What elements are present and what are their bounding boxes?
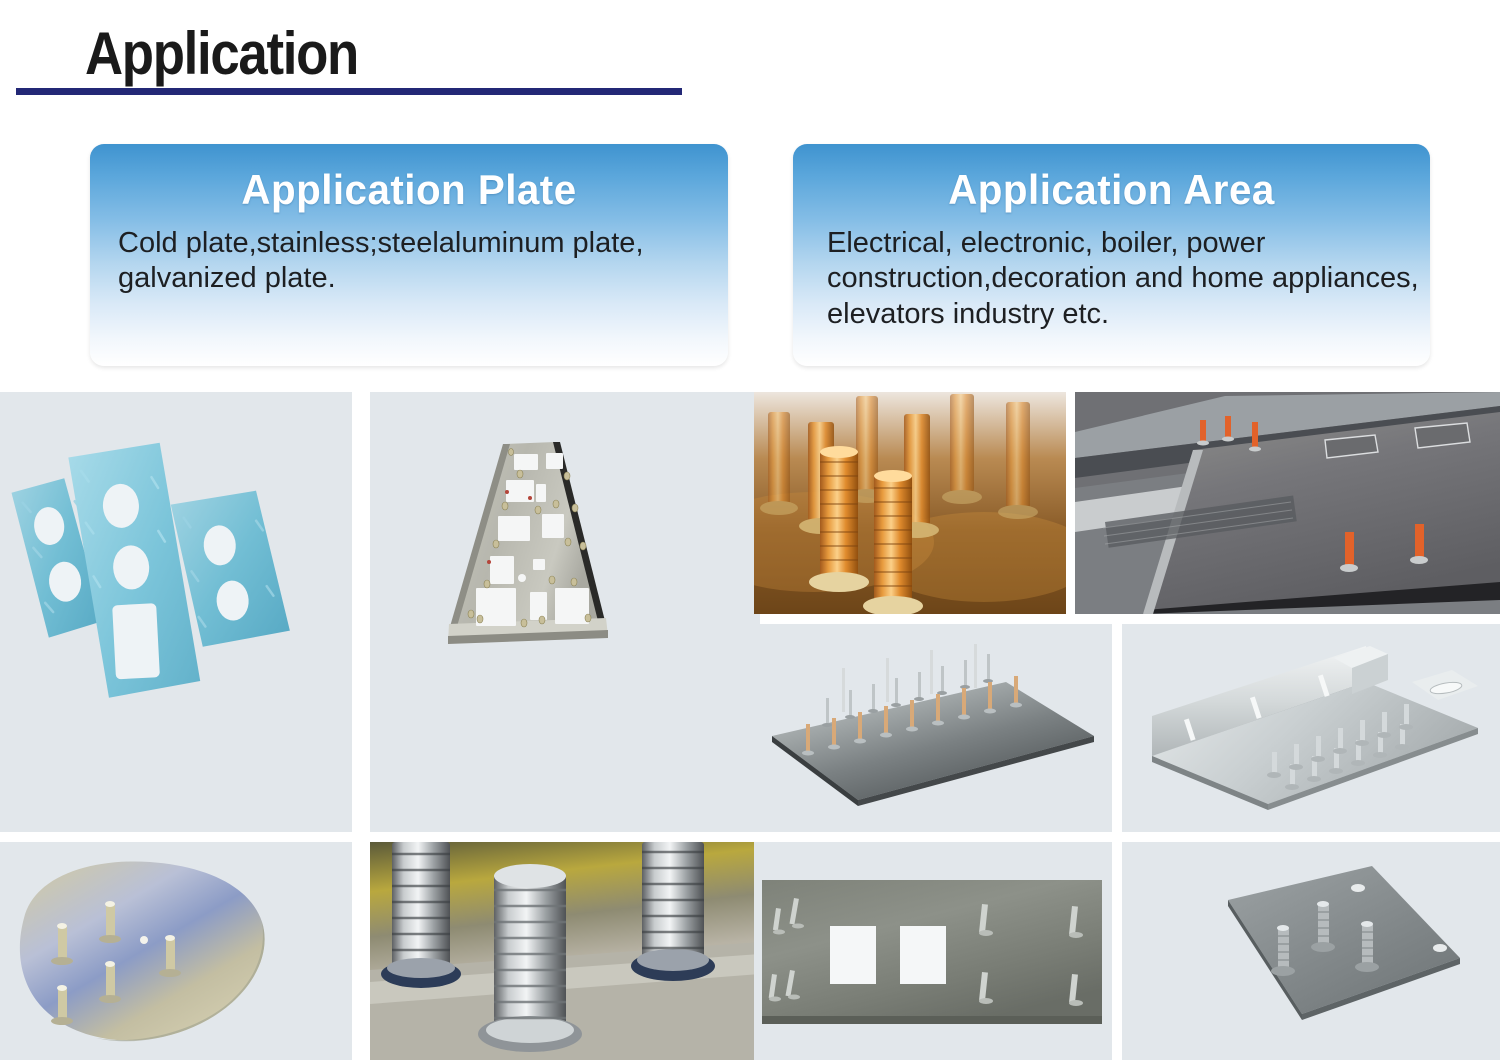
gallery-tile-stud-weld-macro	[370, 842, 760, 1060]
gallery-tile-blue-galvanized-plates	[0, 392, 352, 832]
copper-stud-closeup-photo	[754, 392, 1066, 614]
application-area-card: Application Area Electrical, electronic,…	[793, 144, 1430, 366]
gallery-tile-angled-plate-studs	[1122, 842, 1500, 1060]
dark-panel-orange-studs-photo	[1075, 392, 1500, 614]
flat-plate-stud-rows-photo	[754, 624, 1112, 832]
gallery-tile-trapezoid-stainless-panel	[370, 392, 760, 832]
curved-plate-studs-photo	[0, 842, 352, 1060]
page-header: Application	[0, 0, 1500, 105]
page-title: Application	[85, 24, 358, 84]
trapezoid-stainless-panel-photo	[370, 392, 760, 832]
gallery-tile-curved-plate-studs	[0, 842, 352, 1060]
channel-bracket-studs-photo	[1122, 624, 1500, 832]
gallery-tile-dark-panel-orange-studs	[1075, 392, 1500, 614]
info-card-row: Application Plate Cold plate,stainless;s…	[0, 144, 1500, 366]
stud-weld-macro-photo	[370, 842, 760, 1060]
application-area-card-title: Application Area	[806, 168, 1418, 212]
gallery-tile-channel-bracket-studs	[1122, 624, 1500, 832]
blue-galvanized-plates-photo	[0, 392, 352, 832]
application-plate-card-body: Cold plate,stainless;steelaluminum plate…	[90, 226, 728, 297]
angled-plate-studs-photo	[1122, 842, 1500, 1060]
application-area-card-body: Electrical, electronic, boiler, power co…	[793, 226, 1430, 332]
application-plate-card: Application Plate Cold plate,stainless;s…	[90, 144, 728, 366]
application-page: Application Application Plate Cold plate…	[0, 0, 1500, 1060]
gallery-tile-slotted-plate-studs	[754, 842, 1112, 1060]
application-plate-card-title: Application Plate	[103, 168, 715, 212]
application-photo-gallery	[0, 392, 1500, 1060]
slotted-plate-studs-photo	[754, 842, 1112, 1060]
gallery-tile-flat-plate-stud-rows	[754, 624, 1112, 832]
title-underline-rule	[16, 88, 682, 95]
gallery-tile-copper-stud-closeup	[754, 392, 1066, 614]
